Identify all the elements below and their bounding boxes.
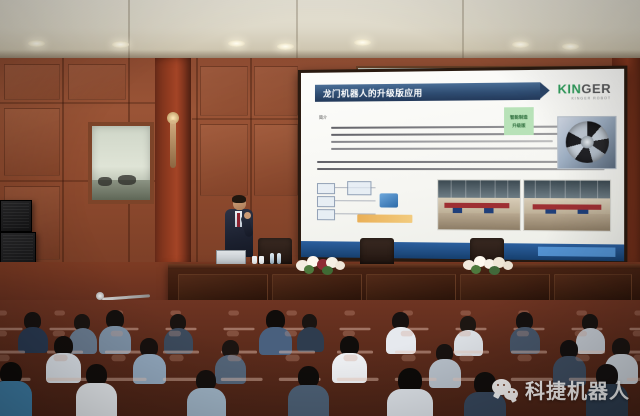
ceiling-downlight [228, 40, 245, 47]
logo-subtitle: KINGER ROBOT [571, 96, 611, 101]
watermark-text: 科捷机器人 [525, 375, 630, 404]
projected-slide: 龙门机器人的升级版应用 KINGER KINGER ROBOT 简介 智能制造 … [301, 69, 624, 261]
water-bottle [277, 253, 281, 264]
badge-line-1: 智能制造 [510, 114, 528, 120]
factory-photo-1 [437, 179, 521, 231]
watermark: 科捷机器人 [492, 375, 630, 404]
ceiling-downlight [354, 39, 371, 46]
presentation-photo-scene: 龙门机器人的升级版应用 KINGER KINGER ROBOT 简介 智能制造 … [0, 0, 640, 416]
badge-line-2: 升级版 [512, 122, 525, 128]
ceiling-downlight [112, 41, 129, 48]
slide-diagram [317, 181, 427, 228]
water-bottle [270, 253, 274, 264]
pa-speaker-top [0, 200, 32, 232]
ceiling-downlight [512, 41, 529, 48]
slide-body-heading: 简介 [319, 115, 327, 121]
logo-text-ger: GER [581, 81, 611, 96]
wall-sconce [170, 120, 176, 168]
logo-text-kin: KIN [558, 82, 582, 97]
wechat-icon [492, 379, 518, 400]
cup [252, 256, 257, 264]
flower-arrangement-1 [292, 252, 348, 274]
slide-title: 龙门机器人的升级版应用 [323, 87, 423, 100]
presenter-chair-2 [360, 238, 394, 264]
factory-photo-2 [523, 179, 611, 231]
projection-screen: 龙门机器人的升级版应用 KINGER KINGER ROBOT 简介 智能制造 … [298, 66, 627, 265]
slide-green-badge: 智能制造 升级版 [504, 107, 534, 135]
kinger-logo: KINGER [558, 83, 612, 96]
product-photo [557, 116, 616, 169]
control-booth-window [88, 122, 154, 204]
ceiling-downlight [277, 43, 294, 50]
flower-arrangement-2 [460, 252, 516, 274]
cup [259, 256, 264, 264]
ceiling-downlight [28, 40, 45, 47]
ceiling [0, 0, 640, 62]
ceiling-downlight [562, 43, 579, 50]
microphone-icon [96, 292, 104, 300]
